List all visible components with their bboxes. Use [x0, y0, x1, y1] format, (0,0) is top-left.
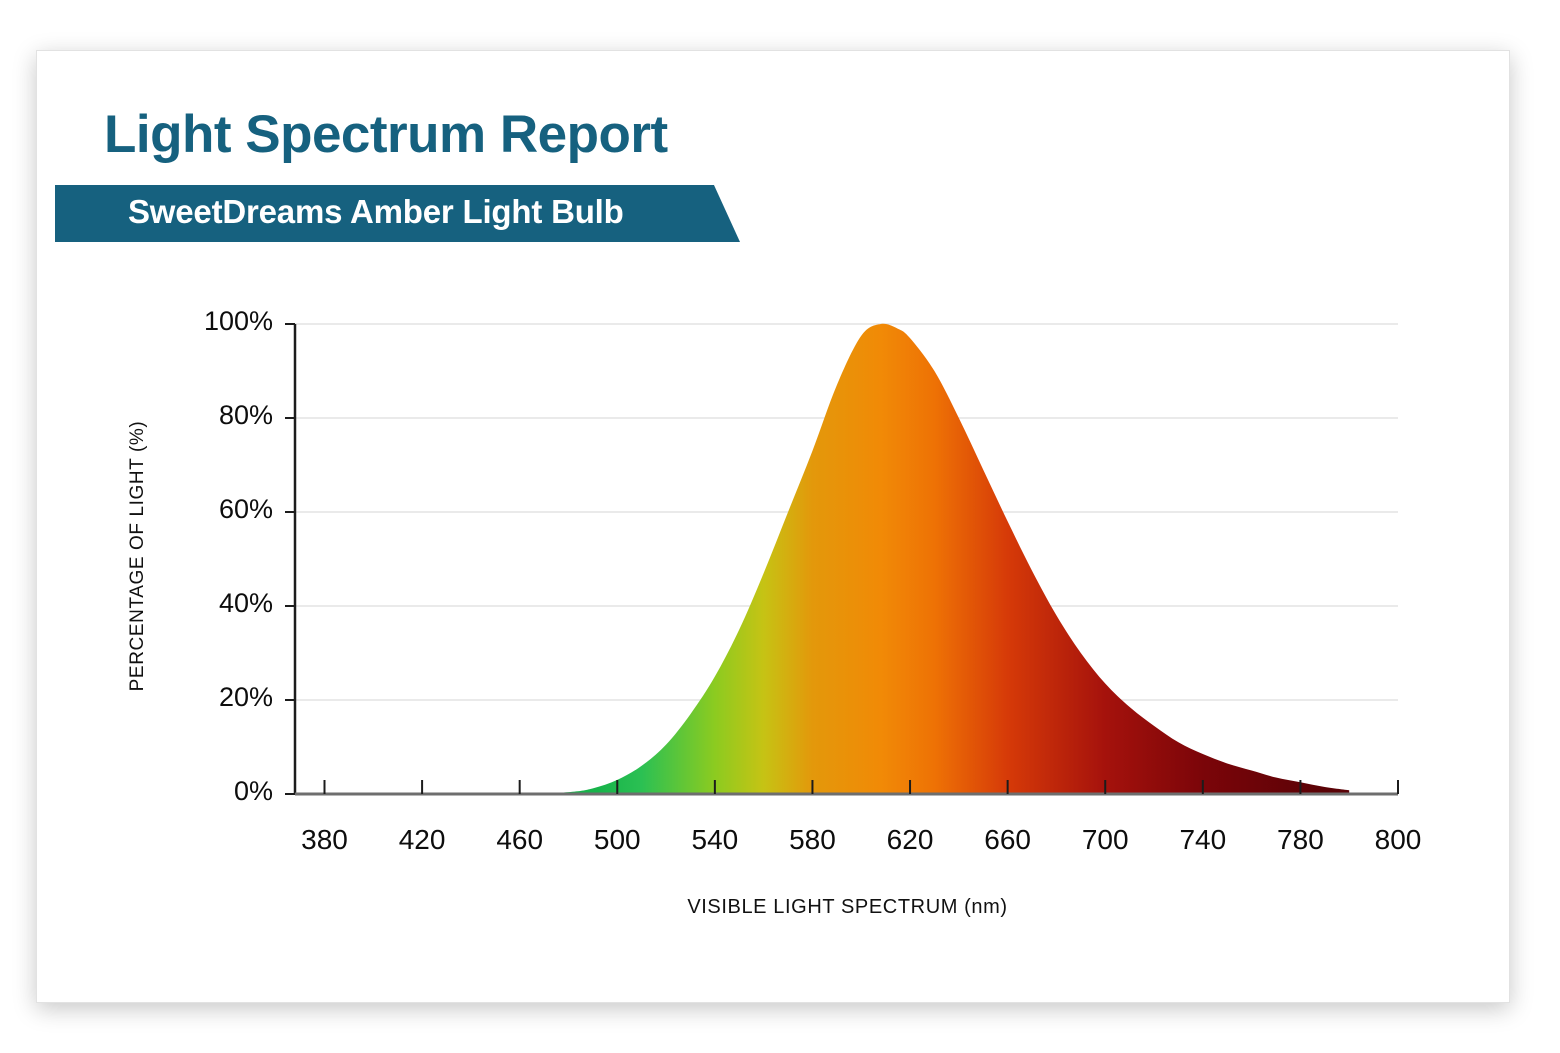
y-axis-title: PERCENTAGE OF LIGHT (%) [127, 396, 149, 716]
y-tick-label: 20% [153, 682, 273, 713]
spectrum-curve [325, 324, 1350, 794]
y-tick-label: 40% [153, 588, 273, 619]
spectrum-area [325, 324, 1350, 794]
spectrum-chart: PERCENTAGE OF LIGHT (%) VISIBLE LIGHT SP… [0, 0, 1560, 1053]
y-tick-label: 80% [153, 400, 273, 431]
y-tick-label: 60% [153, 494, 273, 525]
y-tick-label: 100% [153, 306, 273, 337]
x-tick-label: 800 [1338, 824, 1458, 856]
report-page: Light Spectrum Report SweetDreams Amber … [0, 0, 1560, 1053]
y-tick-label: 0% [153, 776, 273, 807]
x-axis-title: VISIBLE LIGHT SPECTRUM (nm) [295, 896, 1400, 919]
